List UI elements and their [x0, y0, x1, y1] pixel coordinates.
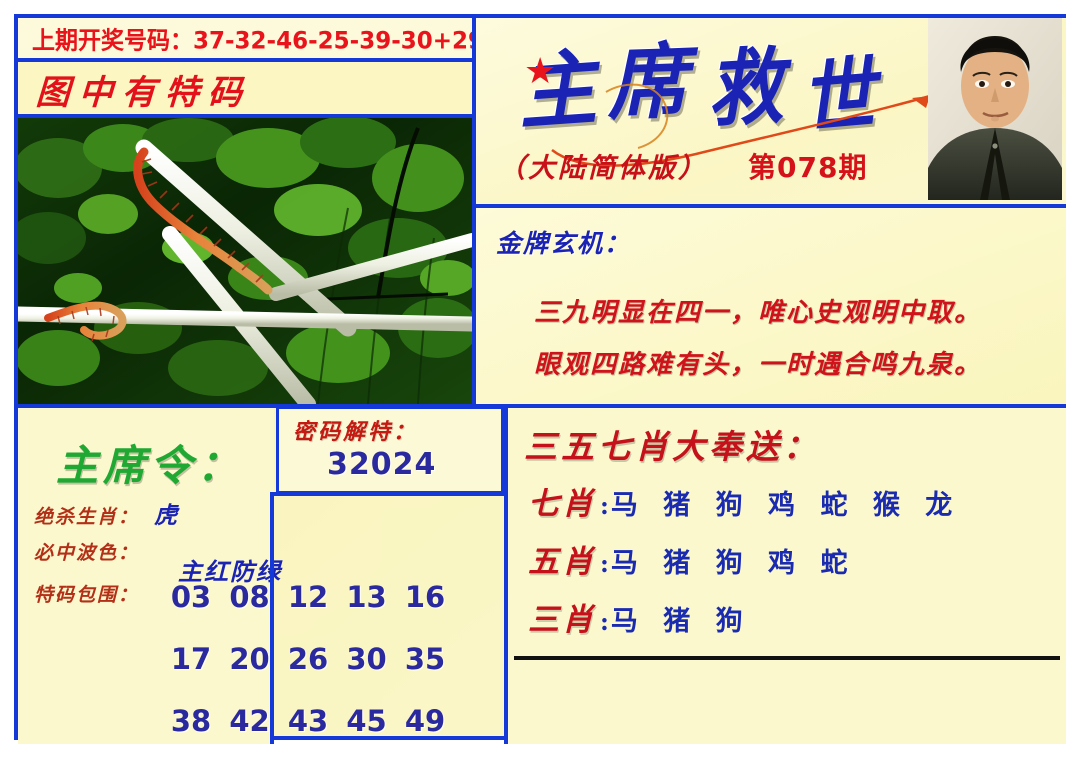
horizontal-rule-title [476, 204, 1066, 208]
zodiac-key: 五肖 [528, 536, 596, 581]
zodiac-row: 三肖 : 马 猪 狗 [528, 594, 751, 639]
image-caption-strip: 图中有特码 [18, 62, 472, 116]
mao-portrait-illustration [928, 18, 1062, 200]
issue-number: 第078期 [748, 146, 867, 186]
oracle-line-1: 三九明显在四一，唯心史观明中取。 [534, 292, 982, 329]
zodiac-row: 七肖 : 马 猪 狗 鸡 蛇 猴 龙 [528, 478, 960, 523]
last-draw-text: 上期开奖号码：37-32-46-25-39-30+29 [18, 20, 484, 56]
poster-inner: 上期开奖号码：37-32-46-25-39-30+29 图中有特码 [18, 18, 1062, 736]
number-cell: 30 [344, 642, 390, 676]
oracle-line-2: 眼观四路难有头，一时遇合鸣九泉。 [534, 344, 982, 381]
zodiac-title: 三五七肖大奉送： [524, 420, 820, 468]
chairman-order-row: 特码包围： [34, 580, 139, 607]
title-char-2: 席 [606, 41, 689, 125]
vertical-rule-bottom [504, 408, 508, 744]
number-cell: 20 [227, 642, 273, 676]
kill-zodiac-label: 绝杀生肖： [34, 506, 139, 528]
number-row: 03 08 12 13 16 [168, 580, 448, 614]
horizontal-rule-draw [18, 58, 472, 62]
wave-color-label: 必中波色： [34, 542, 139, 564]
chairman-order-row: 必中波色： 主红防绿 [34, 538, 139, 565]
zodiac-colon: : [600, 549, 609, 578]
vertical-rule-left-col [270, 494, 274, 744]
zodiac-values: 马 猪 狗 鸡 蛇 猴 龙 [611, 483, 960, 522]
number-cell: 12 [285, 580, 331, 614]
vertical-rule-top [472, 18, 476, 404]
oracle-panel: 金牌玄机： 三九明显在四一，唯心史观明中取。 眼观四路难有头，一时遇合鸣九泉。 [476, 208, 1066, 404]
horizontal-rule-caption [18, 114, 472, 118]
number-pool-grid: 03 08 12 13 16 17 20 26 30 35 38 42 43 4… [168, 580, 448, 766]
mao-portrait [928, 18, 1062, 200]
horizontal-rule-middle [18, 404, 1062, 408]
zodiac-values: 马 猪 狗 鸡 蛇 [611, 541, 856, 580]
number-cell: 43 [285, 704, 331, 738]
number-cell: 38 [168, 704, 214, 738]
last-draw-strip: 上期开奖号码：37-32-46-25-39-30+29 [18, 18, 472, 58]
title-char-3: 救 [705, 46, 785, 133]
code-decode-box: 密码解特： 32024 [276, 406, 504, 494]
poster-frame: 上期开奖号码：37-32-46-25-39-30+29 图中有特码 [14, 14, 1066, 740]
number-cell: 45 [344, 704, 390, 738]
number-cell: 13 [344, 580, 390, 614]
main-title: 主 席 救 世 [518, 46, 918, 138]
zodiac-panel: 三五七肖大奉送： 七肖 : 马 猪 狗 鸡 蛇 猴 龙 五肖 : 马 猪 狗 鸡… [508, 408, 1066, 744]
zodiac-colon: : [600, 491, 609, 520]
number-cell: 49 [402, 704, 448, 738]
zodiac-key: 七肖 [528, 478, 596, 523]
number-cell: 08 [227, 580, 273, 614]
image-caption-text: 图中有特码 [17, 65, 253, 114]
kill-zodiac-value: 虎 [154, 502, 179, 529]
number-cell: 16 [402, 580, 448, 614]
snake-photo-illustration [18, 118, 472, 404]
number-cell: 35 [402, 642, 448, 676]
chairman-order-title: 主席令： [56, 432, 244, 493]
number-cell: 42 [227, 704, 273, 738]
horizontal-rule-code-box [270, 492, 504, 496]
zodiac-divider [514, 656, 1060, 660]
number-pool-label: 特码包围： [34, 584, 139, 606]
number-row: 38 42 43 45 49 [168, 704, 448, 738]
zodiac-row: 五肖 : 马 猪 狗 鸡 蛇 [528, 536, 855, 581]
chairman-order-row: 绝杀生肖： 虎 [34, 496, 179, 530]
number-cell: 17 [168, 642, 214, 676]
code-decode-label: 密码解特： [293, 414, 418, 446]
number-row: 17 20 26 30 35 [168, 642, 448, 676]
zodiac-values: 马 猪 狗 [611, 599, 751, 638]
title-char-4: 世 [798, 54, 879, 140]
snake-photo [18, 118, 472, 404]
zodiac-key: 三肖 [528, 594, 596, 639]
number-cell: 26 [285, 642, 331, 676]
oracle-label: 金牌玄机： [496, 224, 631, 260]
number-cell: 03 [168, 580, 214, 614]
zodiac-colon: : [600, 607, 609, 636]
edition-label: （大陆简体版） [498, 146, 708, 185]
code-decode-value: 32024 [327, 447, 436, 482]
